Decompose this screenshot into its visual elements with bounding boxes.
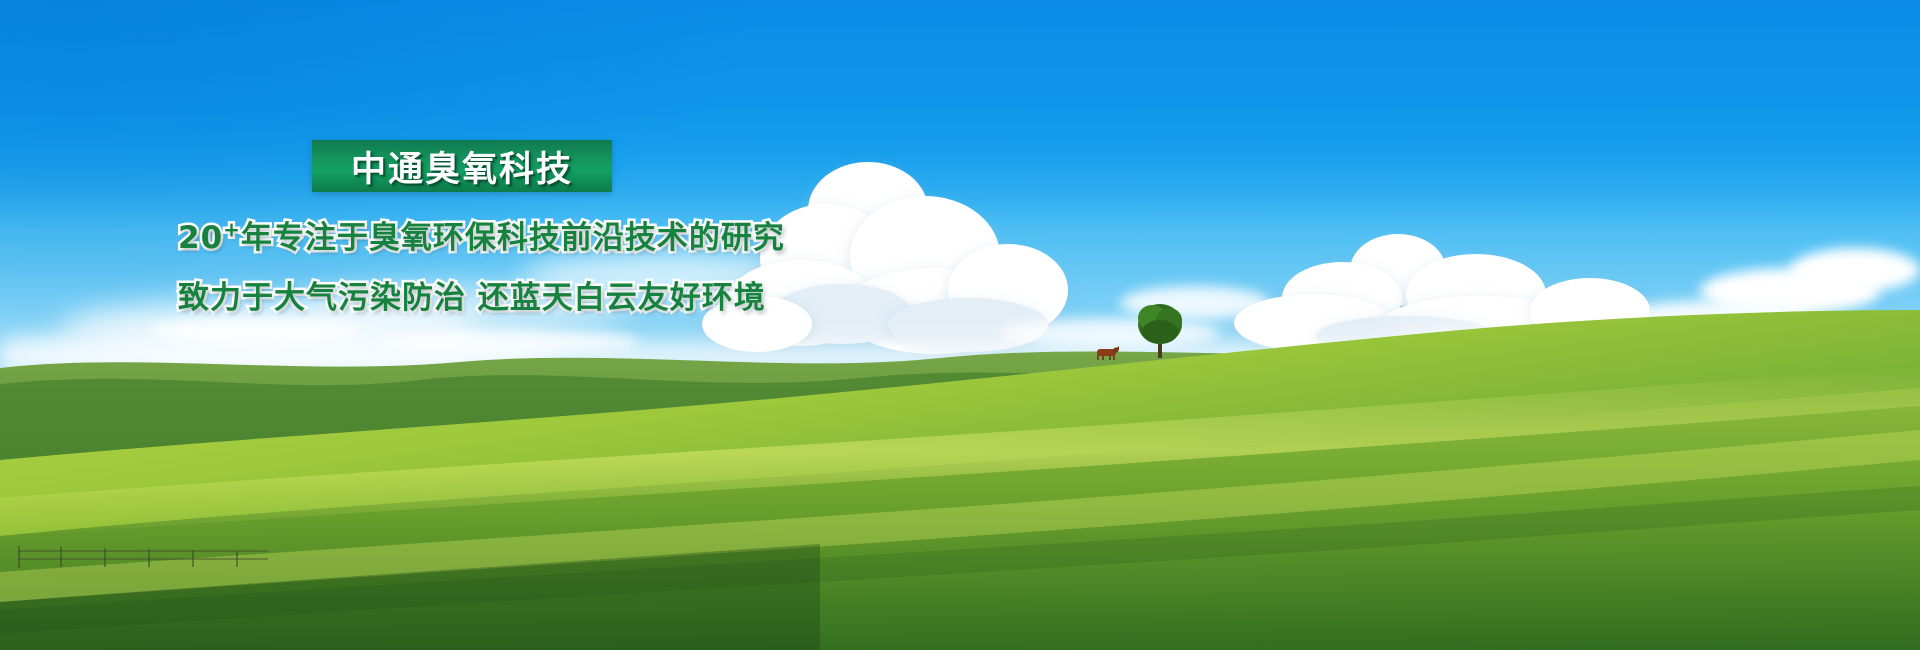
tagline-plus-superscript: + (223, 218, 241, 242)
horse-icon (1094, 344, 1120, 362)
tagline-line-1-rest: 年专注于臭氧环保科技前沿技术的研究 (241, 220, 785, 256)
tagline-line-2: 致力于大气污染防治 还蓝天白云友好环境 (178, 272, 766, 317)
hero-banner: 中通臭氧科技 20+年专注于臭氧环保科技前沿技术的研究 致力于大气污染防治 还蓝… (0, 0, 1920, 650)
tagline-years-number: 20 (178, 220, 223, 256)
tree-icon (1128, 298, 1192, 360)
fence-icon (18, 546, 268, 568)
grassland (0, 310, 1920, 650)
tagline-line-1: 20+年专注于臭氧环保科技前沿技术的研究 (178, 212, 785, 257)
company-title-plate[interactable]: 中通臭氧科技 (312, 140, 612, 192)
company-title: 中通臭氧科技 (351, 141, 573, 192)
